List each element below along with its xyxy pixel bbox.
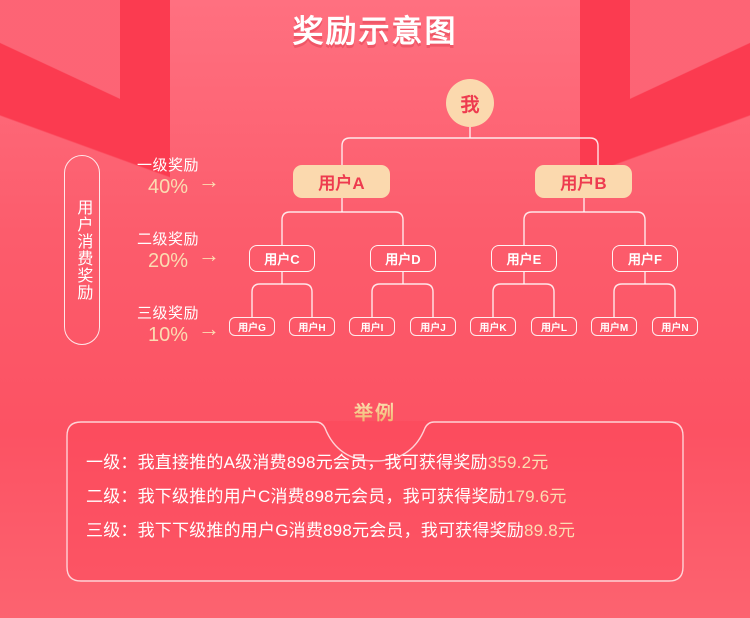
tree-node-user-m[interactable]: 用户M [591, 317, 637, 336]
example-line-2-amount: 179.6元 [506, 487, 567, 506]
tree-node-user-l[interactable]: 用户L [531, 317, 577, 336]
example-line-list: 一级：我直接推的A级消费898元会员，我可获得奖励359.2元 二级：我下级推的… [86, 446, 666, 548]
tree-node-user-h[interactable]: 用户H [289, 317, 335, 336]
page-title: 奖励示意图 [0, 6, 750, 51]
tree-node-user-k[interactable]: 用户K [470, 317, 516, 336]
example-line-1-text: 一级：我直接推的A级消费898元会员，我可获得奖励 [86, 453, 488, 472]
example-line-2-text: 二级：我下级推的用户C消费898元会员，我可获得奖励 [86, 487, 506, 506]
tree-node-user-f[interactable]: 用户F [612, 245, 678, 272]
tree-node-user-e[interactable]: 用户E [491, 245, 557, 272]
example-title: 举例 [0, 398, 750, 425]
example-line-1-amount: 359.2元 [488, 453, 549, 472]
example-line-level-3: 三级：我下下级推的用户G消费898元会员，我可获得奖励89.8元 [86, 514, 666, 548]
tree-node-user-d[interactable]: 用户D [370, 245, 436, 272]
tree-node-user-b[interactable]: 用户B [535, 165, 632, 198]
arrow-right-icon-level-1: → [198, 170, 220, 192]
side-label-text: 用户消费奖励 [73, 199, 92, 301]
tree-node-user-c[interactable]: 用户C [249, 245, 315, 272]
example-line-level-1: 一级：我直接推的A级消费898元会员，我可获得奖励359.2元 [86, 446, 666, 480]
example-line-3-text: 三级：我下下级推的用户G消费898元会员，我可获得奖励 [86, 521, 524, 540]
tree-node-user-a[interactable]: 用户A [293, 165, 390, 198]
tree-node-user-j[interactable]: 用户J [410, 317, 456, 336]
side-label-pill: 用户消费奖励 [64, 155, 100, 345]
tree-node-user-i[interactable]: 用户I [349, 317, 395, 336]
tree-node-user-n[interactable]: 用户N [652, 317, 698, 336]
example-line-level-2: 二级：我下级推的用户C消费898元会员，我可获得奖励179.6元 [86, 480, 666, 514]
arrow-right-icon-level-3: → [198, 318, 220, 340]
tree-node-root[interactable]: 我 [446, 79, 494, 127]
arrow-right-icon-level-2: → [198, 244, 220, 266]
tree-node-user-g[interactable]: 用户G [229, 317, 275, 336]
reward-diagram-page: 奖励示意图 用户消费奖励 一级奖励 40% → 二级奖励 20% → 三级奖励 … [0, 0, 750, 618]
example-line-3-amount: 89.8元 [524, 521, 575, 540]
